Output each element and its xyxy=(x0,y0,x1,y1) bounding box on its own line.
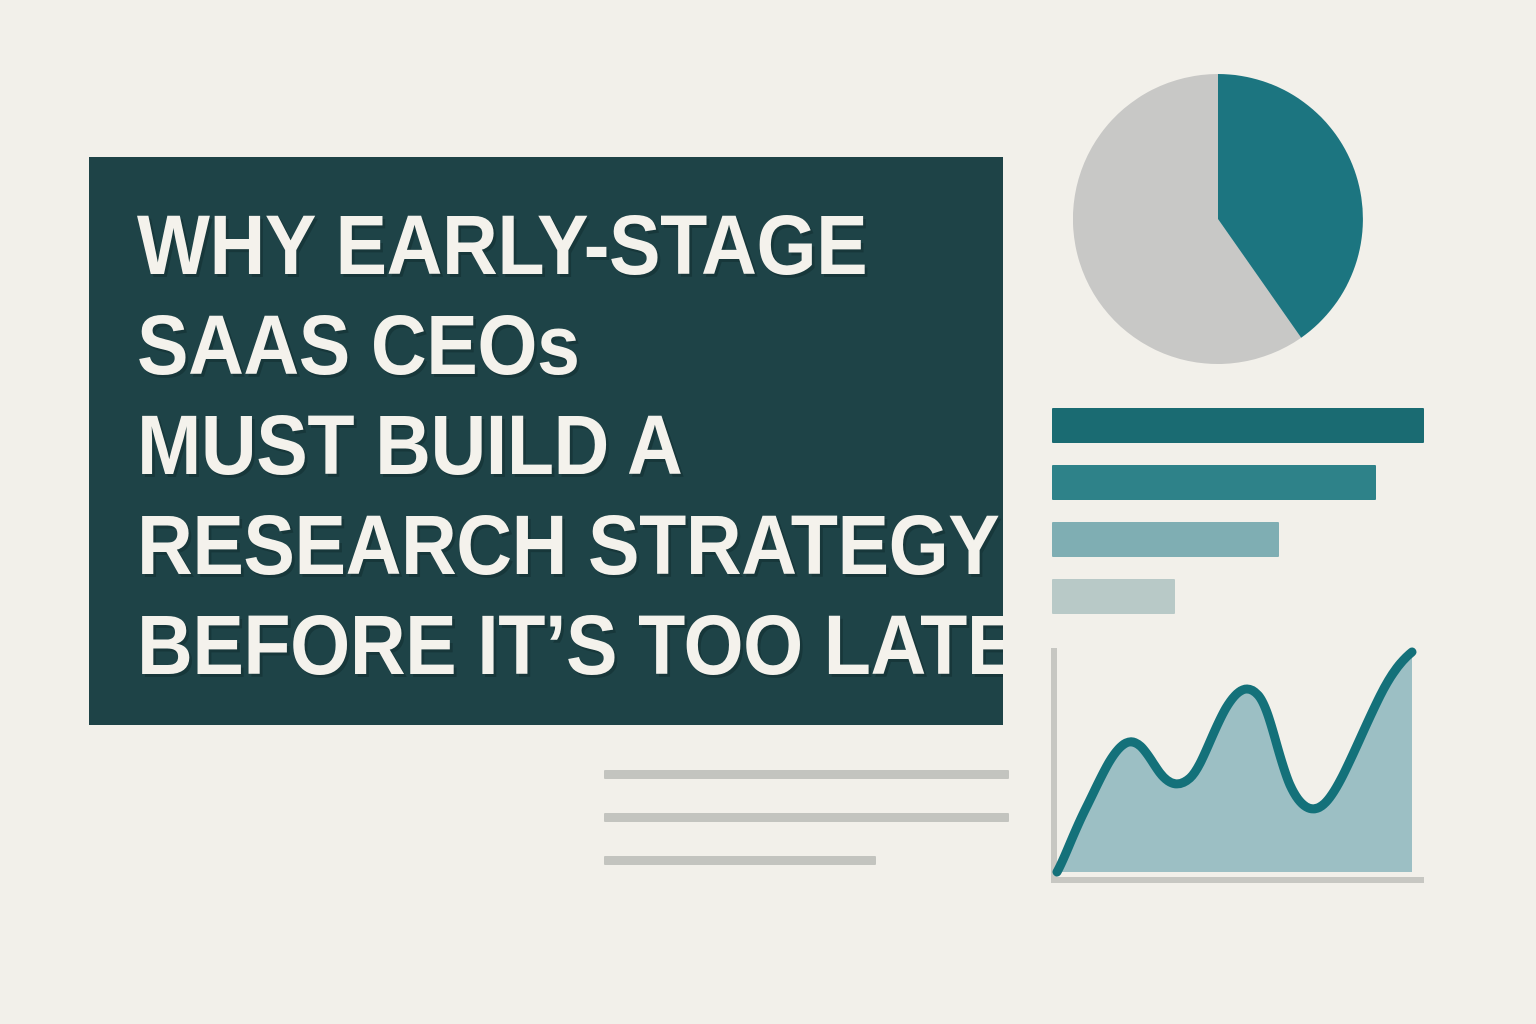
area-chart-x-axis xyxy=(1051,877,1424,883)
text-rule-2 xyxy=(604,813,1009,822)
title-panel: WHY EARLY-STAGE SAAS CEOs MUST BUILD A R… xyxy=(89,157,1003,725)
text-rule-1 xyxy=(604,770,1009,779)
bar-row-1 xyxy=(1052,408,1424,443)
bar-row-3 xyxy=(1052,522,1279,557)
headline-line-2: SAAS CEOs xyxy=(137,295,934,395)
area-chart xyxy=(1040,640,1430,895)
headline-line-1: WHY EARLY-STAGE xyxy=(137,195,934,295)
bar-row-2 xyxy=(1052,465,1376,500)
bar-row-4 xyxy=(1052,579,1175,614)
text-rule-3 xyxy=(604,856,876,865)
pie-chart xyxy=(1073,74,1363,364)
headline-line-4: RESEARCH STRATEGY xyxy=(137,495,934,595)
bar-chart xyxy=(1052,408,1424,636)
placeholder-text-block xyxy=(604,770,1014,899)
poster-canvas: WHY EARLY-STAGE SAAS CEOs MUST BUILD A R… xyxy=(0,0,1536,1024)
area-chart-y-axis xyxy=(1051,648,1057,883)
headline-line-3: MUST BUILD A xyxy=(137,395,934,495)
headline-line-5: BEFORE IT’S TOO LATE xyxy=(137,595,934,695)
